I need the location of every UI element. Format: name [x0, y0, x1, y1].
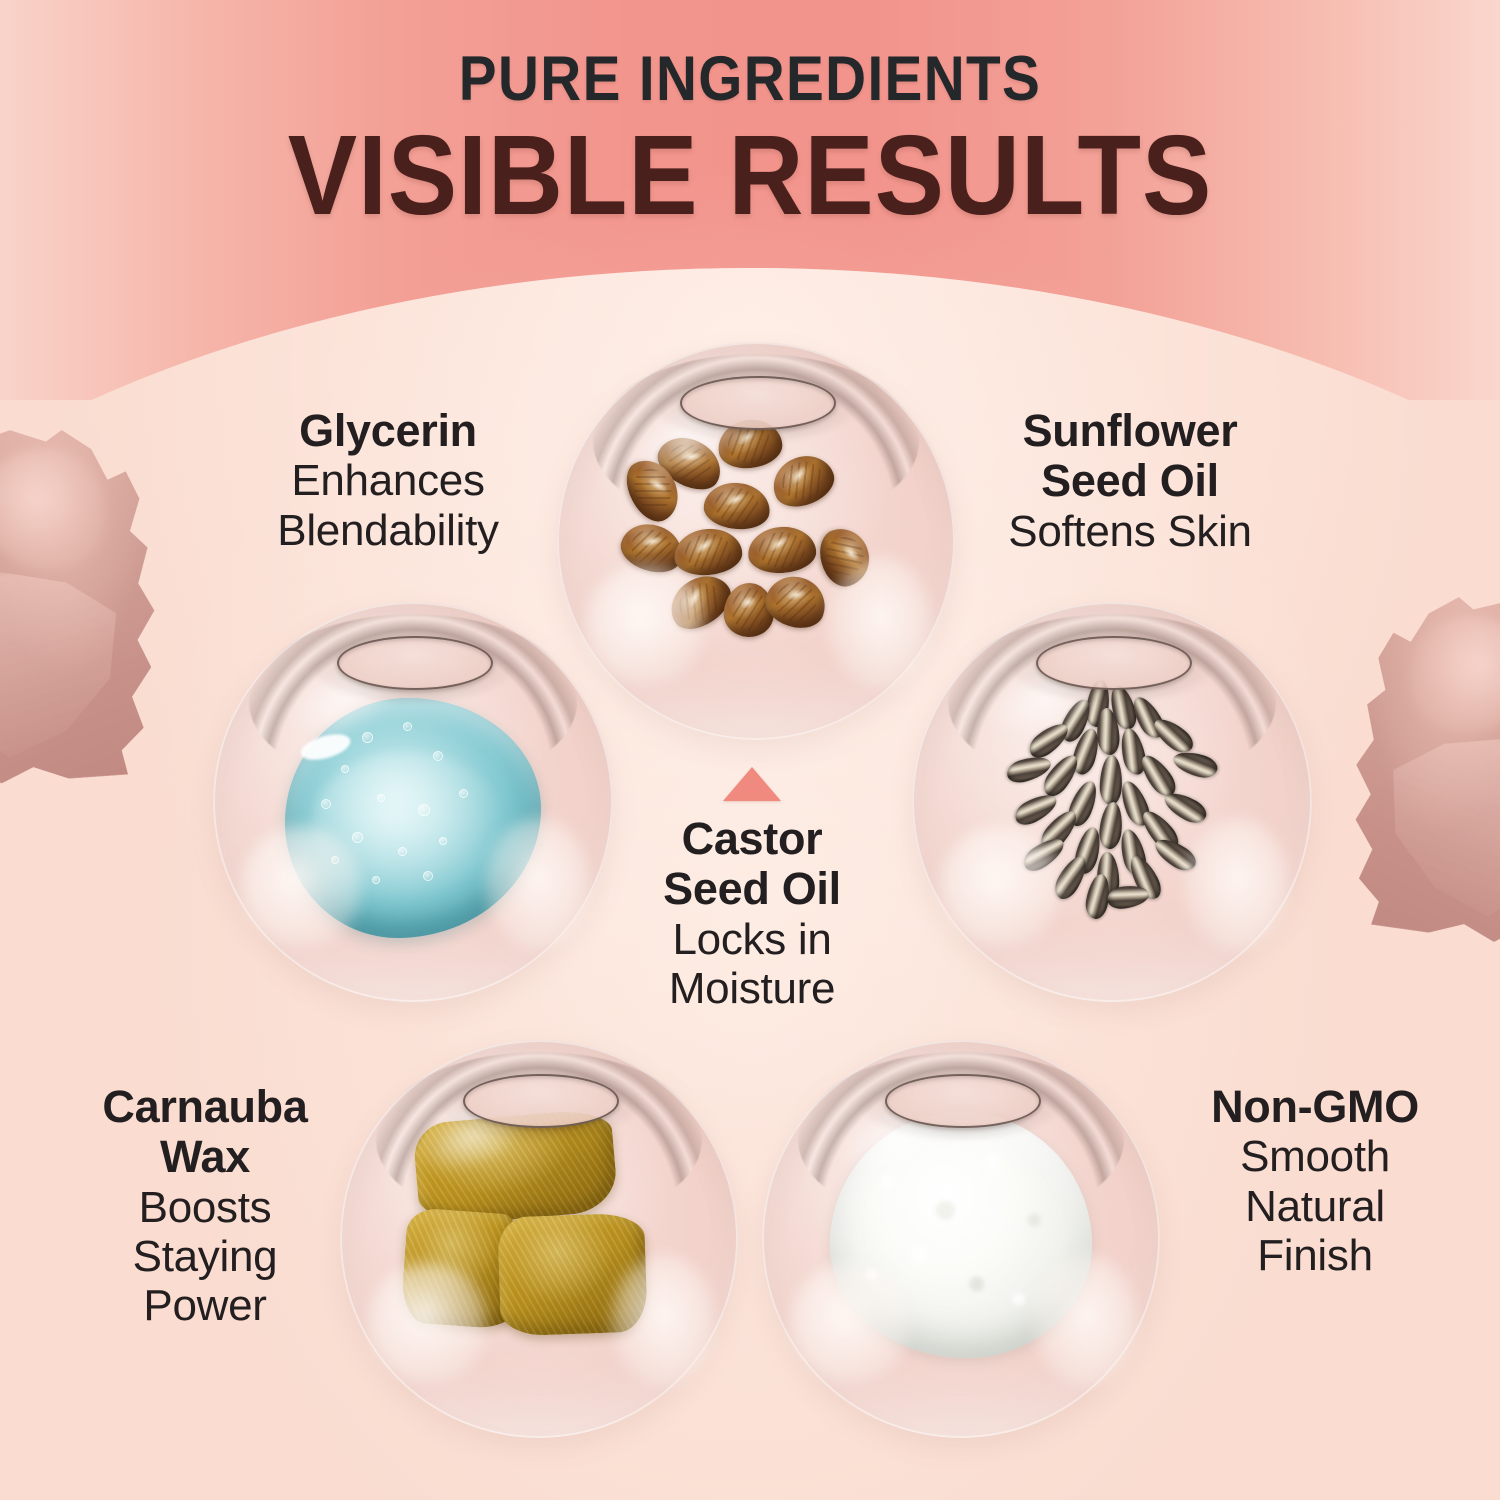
- label-desc-line: Finish: [1150, 1231, 1480, 1280]
- ingredient-label-glycerin: Glycerin Enhances Blendability: [178, 406, 598, 555]
- ingredient-sphere-non-gmo: [762, 1040, 1160, 1438]
- label-name: Glycerin: [178, 406, 598, 456]
- label-desc-line: Softens Skin: [920, 507, 1340, 556]
- label-name-line: Seed Oil: [920, 456, 1340, 506]
- label-name-line: Sunflower: [920, 406, 1340, 456]
- label-name-line: Non-GMO: [1150, 1082, 1480, 1132]
- ingredient-sphere-castor-seed-oil: [557, 342, 955, 740]
- label-desc-line: Enhances: [178, 456, 598, 505]
- glass-rim: [912, 602, 1312, 1002]
- label-desc-line: Power: [40, 1281, 370, 1330]
- glass-rim: [340, 1040, 738, 1438]
- ingredient-label-non-gmo: Non-GMO Smooth Natural Finish: [1150, 1082, 1480, 1280]
- label-name-line: Seed Oil: [592, 864, 912, 914]
- headline-line-2: VISIBLE RESULTS: [60, 117, 1440, 235]
- label-desc-line: Staying: [40, 1232, 370, 1281]
- ingredient-label-castor-seed-oil: Castor Seed Oil Locks in Moisture: [592, 814, 912, 1013]
- ingredient-sphere-sunflower-seed-oil: [912, 602, 1312, 1002]
- ingredient-sphere-carnauba-wax: [340, 1040, 738, 1438]
- ingredient-label-carnauba-wax: Carnauba Wax Boosts Staying Power: [40, 1082, 370, 1331]
- label-name-line: Carnauba: [40, 1082, 370, 1132]
- label-desc-line: Moisture: [592, 964, 912, 1013]
- label-name-line: Wax: [40, 1132, 370, 1182]
- label-desc-line: Blendability: [178, 506, 598, 555]
- glass-rim: [557, 342, 955, 740]
- ingredient-label-sunflower-seed-oil: Sunflower Seed Oil Softens Skin: [920, 406, 1340, 556]
- label-desc-line: Smooth: [1150, 1132, 1480, 1181]
- label-desc-line: Natural: [1150, 1182, 1480, 1231]
- glass-rim: [213, 602, 613, 1002]
- castor-pointer-triangle-icon: [723, 767, 781, 801]
- label-desc-line: Boosts: [40, 1183, 370, 1232]
- label-name-line: Castor: [592, 814, 912, 864]
- ingredient-sphere-glycerin: [213, 602, 613, 1002]
- label-desc-line: Locks in: [592, 915, 912, 964]
- glass-rim: [762, 1040, 1160, 1438]
- headline-block: PURE INGREDIENTS VISIBLE RESULTS: [0, 48, 1500, 235]
- infographic-canvas: PURE INGREDIENTS VISIBLE RESULTS: [0, 0, 1500, 1500]
- lipstick-smear-left-decoration: [0, 420, 175, 788]
- headline-line-1: PURE INGREDIENTS: [75, 48, 1425, 111]
